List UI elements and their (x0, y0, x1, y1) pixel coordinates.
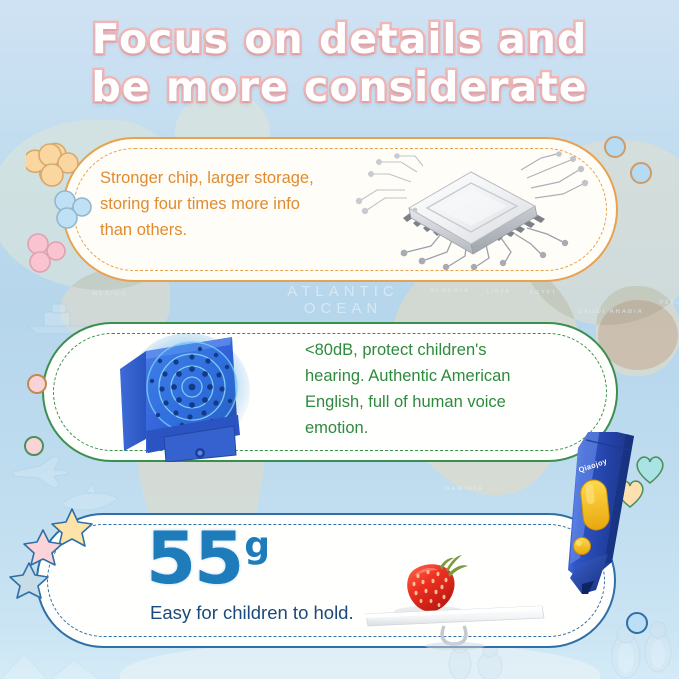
map-label-namibia: NAMIBIA (445, 486, 484, 492)
circle-blue-top-decoration (604, 136, 626, 158)
cloud-blue-decoration (45, 187, 101, 233)
map-label-egypt: EGYPT (530, 290, 557, 296)
star-blue-decoration (8, 560, 50, 600)
ocean-label-line2: OCEAN (253, 300, 433, 317)
strawberry-on-scale-image (352, 540, 557, 650)
ocean-label-atlantic: ATLANTIC OCEAN (253, 283, 433, 317)
map-label-algeria: ALGERIA (430, 288, 470, 294)
page-title-line-1: Focus on details and (0, 16, 679, 64)
weight-caption: Easy for children to hold. (150, 602, 354, 624)
ocean-label-line1: ATLANTIC (253, 283, 433, 300)
circle-blue-right-decoration (630, 162, 652, 184)
feature-card-chip-text: Stronger chip, larger storage, storing f… (100, 165, 350, 243)
map-label-peru: PERU (660, 300, 679, 306)
weight-display: 55 g Easy for children to hold. (146, 522, 354, 624)
cloud-orange-decoration (26, 141, 88, 193)
page-title-line-2: be more considerate (0, 64, 679, 112)
promo-page: ATLANTIC OCEAN MEXICO ALGERIA LIBYA EGYP… (0, 0, 679, 679)
map-label-mexico: MEXICO (92, 291, 128, 297)
weight-number: 55 (146, 522, 242, 594)
map-label-saudi-arabia: SAUDI ARABIA (578, 309, 644, 315)
page-title: Focus on details and be more considerate (0, 16, 679, 111)
blue-speaker-image (112, 331, 267, 462)
circle-pink-left-decoration (27, 374, 47, 394)
feature-card-audio-text: <80dB, protect children's hearing. Authe… (305, 337, 583, 441)
cloud-pink-decoration (17, 230, 75, 278)
weight-value-row: 55 g (146, 522, 354, 594)
map-label-libya: LIBYA (487, 289, 511, 295)
airplane-illustration (10, 452, 70, 490)
reading-pen-image (534, 432, 652, 604)
circle-pink-lower-decoration (24, 436, 44, 456)
circle-blue-bottom-decoration (626, 612, 648, 634)
weight-unit: g (244, 528, 270, 564)
microchip-image (345, 148, 595, 270)
